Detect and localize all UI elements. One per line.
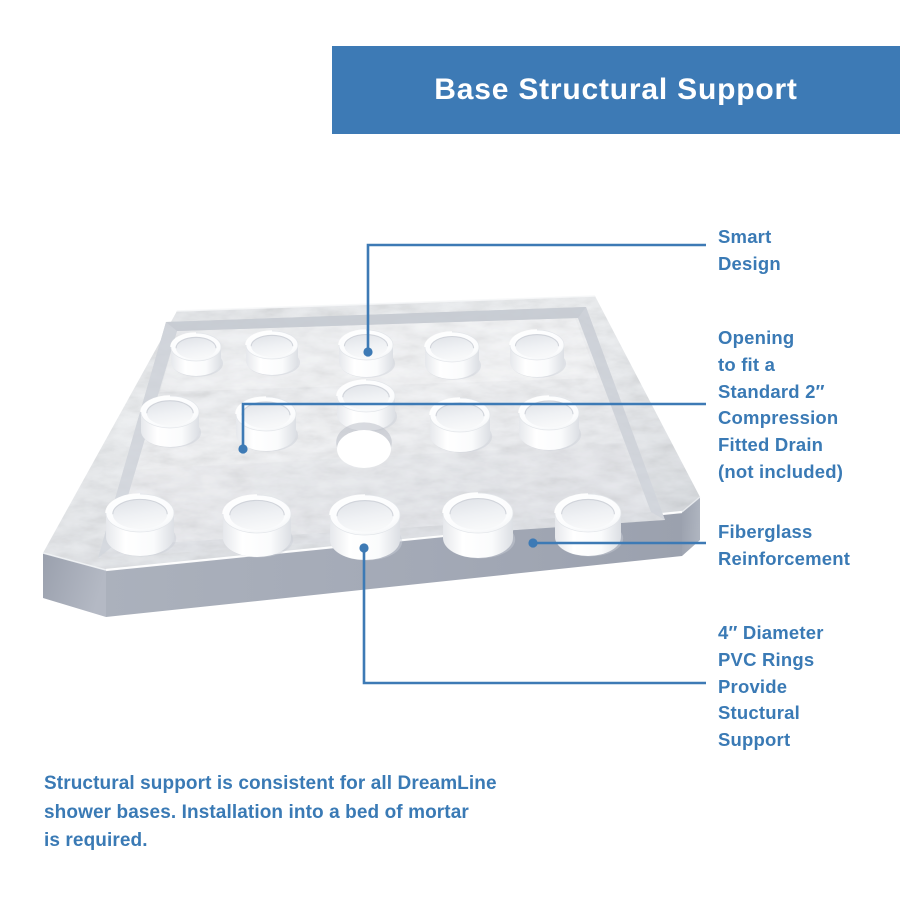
pvc-ring bbox=[171, 333, 223, 377]
pvc-ring bbox=[510, 330, 566, 378]
callout-line: Fitted Drain bbox=[718, 432, 843, 459]
callout-fiberglass-reinforcement: Fiberglass Reinforcement bbox=[718, 519, 850, 573]
pvc-ring bbox=[141, 396, 201, 448]
callout-line: Stuctural bbox=[718, 700, 824, 727]
callout-line: Provide bbox=[718, 674, 824, 701]
pvc-ring bbox=[246, 331, 300, 376]
footnote-line: shower bases. Installation into a bed of… bbox=[44, 799, 644, 828]
pvc-ring bbox=[555, 494, 623, 557]
callout-pvc-rings: 4″ Diameter PVC Rings Provide Stuctural … bbox=[718, 620, 824, 754]
callout-line: (not included) bbox=[718, 459, 843, 486]
pvc-ring bbox=[425, 332, 481, 380]
pvc-ring bbox=[443, 493, 515, 559]
drain-opening bbox=[336, 422, 392, 468]
footnote-line: Structural support is consistent for all… bbox=[44, 770, 644, 799]
callout-line: 4″ Diameter bbox=[718, 620, 824, 647]
callout-smart-design: Smart Design bbox=[718, 224, 781, 278]
page-title: Base Structural Support bbox=[434, 73, 797, 107]
callout-line: Fiberglass bbox=[718, 519, 850, 546]
footnote-text: Structural support is consistent for all… bbox=[44, 770, 644, 856]
callout-line: PVC Rings bbox=[718, 647, 824, 674]
callout-line: Support bbox=[718, 727, 824, 754]
callout-line: Opening bbox=[718, 325, 843, 352]
pvc-ring bbox=[519, 396, 581, 451]
callout-line: Compression bbox=[718, 405, 843, 432]
callout-line: Smart bbox=[718, 224, 781, 251]
pvc-ring bbox=[106, 494, 176, 557]
callout-line: Design bbox=[718, 251, 781, 278]
pvc-ring bbox=[430, 398, 492, 453]
diagram-canvas: Base Structural Support Smart Design Ope… bbox=[0, 0, 900, 900]
pvc-ring bbox=[236, 397, 298, 452]
callout-line: Standard 2″ bbox=[718, 379, 843, 406]
callout-drain-opening: Opening to fit a Standard 2″ Compression… bbox=[718, 325, 843, 486]
pvc-ring bbox=[223, 495, 293, 558]
callout-line: Reinforcement bbox=[718, 546, 850, 573]
pvc-ring bbox=[330, 495, 402, 561]
footnote-line: is required. bbox=[44, 827, 644, 856]
callout-line: to fit a bbox=[718, 352, 843, 379]
title-banner: Base Structural Support bbox=[332, 46, 900, 134]
pvc-ring bbox=[339, 330, 395, 378]
